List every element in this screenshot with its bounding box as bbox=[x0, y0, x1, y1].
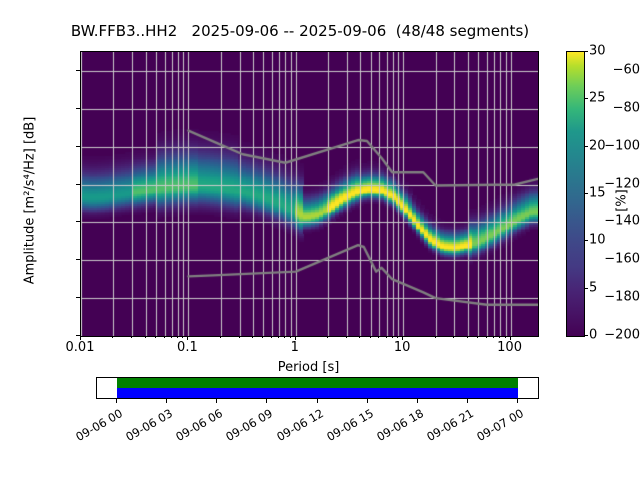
x-axis-tick-mark-minor bbox=[467, 336, 468, 338]
x-axis-tick-label: 100 bbox=[497, 340, 522, 355]
x-axis-label: Period [s] bbox=[80, 360, 537, 375]
colorbar-tick-label: 5 bbox=[589, 280, 597, 295]
x-axis-tick-mark-minor bbox=[477, 336, 478, 338]
x-axis-tick-mark-minor bbox=[392, 336, 393, 338]
y-axis-tick-mark bbox=[76, 108, 80, 109]
x-axis-tick-mark-minor bbox=[171, 336, 172, 338]
colorbar-tick-mark bbox=[584, 146, 588, 147]
colorbar-tick-label: 0 bbox=[589, 328, 597, 343]
ppsd-histogram-canvas bbox=[81, 52, 538, 336]
colorbar-tick-label: 10 bbox=[589, 233, 606, 248]
x-axis-tick-mark-minor bbox=[164, 336, 165, 338]
x-axis-tick-mark-minor bbox=[262, 336, 263, 338]
timeline-tick-label: 09-06 03 bbox=[118, 406, 175, 447]
x-axis-tick-mark-minor bbox=[378, 336, 379, 338]
timeline-tick-mark bbox=[517, 398, 518, 403]
y-axis-tick-label: −60 bbox=[572, 62, 640, 77]
y-axis-label: Amplitude [m²/s⁴/Hz] [dB] bbox=[23, 56, 38, 346]
x-axis-tick-mark-minor bbox=[252, 336, 253, 338]
timeline-tick-mark bbox=[467, 398, 468, 403]
timeline-tick-label: 09-06 18 bbox=[368, 406, 425, 447]
x-axis-tick-mark-minor bbox=[359, 336, 360, 338]
timeline-tick-mark bbox=[367, 398, 368, 403]
colorbar-tick-label: 20 bbox=[589, 138, 606, 153]
x-axis-tick-mark-minor bbox=[397, 336, 398, 338]
ppsd-plot-area[interactable] bbox=[80, 51, 539, 337]
x-axis-tick-mark-minor bbox=[271, 336, 272, 338]
x-axis-tick-label: 10 bbox=[394, 340, 411, 355]
figure-title: BW.FFB3..HH2 2025-09-06 -- 2025-09-06 (4… bbox=[0, 22, 600, 40]
x-axis-tick-mark-minor bbox=[239, 336, 240, 338]
timeline-tick-label: 09-06 09 bbox=[218, 406, 275, 447]
timeline-tick-mark bbox=[216, 398, 217, 403]
x-axis-tick-mark-minor bbox=[493, 336, 494, 338]
x-axis-tick-mark-minor bbox=[278, 336, 279, 338]
colorbar-tick-label: 15 bbox=[589, 186, 606, 201]
timeline-tick-label: 09-06 06 bbox=[168, 406, 225, 447]
timeline-tick-mark bbox=[166, 398, 167, 403]
timeline-bar-green bbox=[117, 378, 518, 388]
y-axis-tick-label: −140 bbox=[572, 214, 640, 229]
x-axis-tick-mark-minor bbox=[386, 336, 387, 338]
colorbar-tick-mark bbox=[584, 240, 588, 241]
x-axis-tick-mark-minor bbox=[370, 336, 371, 338]
timeline-tick-mark bbox=[317, 398, 318, 403]
ppsd-figure: BW.FFB3..HH2 2025-09-06 -- 2025-09-06 (4… bbox=[0, 0, 640, 480]
x-axis-tick-mark-minor bbox=[131, 336, 132, 338]
y-axis-tick-mark bbox=[76, 184, 80, 185]
x-axis-tick-mark-minor bbox=[145, 336, 146, 338]
y-axis-tick-mark bbox=[76, 259, 80, 260]
timeline-tick-label: 09-06 00 bbox=[68, 406, 125, 447]
timeline-tick-mark bbox=[266, 398, 267, 403]
x-axis-tick-mark-minor bbox=[327, 336, 328, 338]
timeline-coverage-axes[interactable] bbox=[96, 377, 539, 399]
timeline-tick-label: 09-06 12 bbox=[268, 406, 325, 447]
timeline-tick-label: 09-06 15 bbox=[319, 406, 376, 447]
x-axis-tick-mark-minor bbox=[155, 336, 156, 338]
x-axis-tick-mark-minor bbox=[499, 336, 500, 338]
x-axis-tick-label: 0.1 bbox=[177, 340, 198, 355]
y-axis-tick-label: −100 bbox=[572, 138, 640, 153]
timeline-tick-label: 09-06 21 bbox=[419, 406, 476, 447]
colorbar-tick-label: 30 bbox=[589, 44, 606, 59]
y-axis-tick-label: −180 bbox=[572, 290, 640, 305]
timeline-tick-mark bbox=[417, 398, 418, 403]
x-axis-tick-mark-minor bbox=[505, 336, 506, 338]
y-axis-tick-mark bbox=[76, 70, 80, 71]
colorbar-tick-label: 25 bbox=[589, 91, 606, 106]
x-axis-tick-mark-minor bbox=[346, 336, 347, 338]
x-axis-tick-mark-minor bbox=[435, 336, 436, 338]
y-axis-tick-mark bbox=[76, 297, 80, 298]
y-axis-tick-label: −160 bbox=[572, 252, 640, 267]
timeline-bar-blue bbox=[117, 388, 518, 398]
colorbar-tick-mark bbox=[584, 335, 588, 336]
x-axis-tick-mark-minor bbox=[182, 336, 183, 338]
x-axis-tick-mark-minor bbox=[220, 336, 221, 338]
x-axis-tick-label: 1 bbox=[291, 340, 299, 355]
colorbar-tick-mark bbox=[584, 288, 588, 289]
x-axis-tick-mark-minor bbox=[290, 336, 291, 338]
x-axis-tick-mark-minor bbox=[453, 336, 454, 338]
y-axis-tick-mark bbox=[76, 146, 80, 147]
x-axis-tick-label: 0.01 bbox=[66, 340, 95, 355]
x-axis-tick-mark-minor bbox=[177, 336, 178, 338]
timeline-tick-label: 09-07 00 bbox=[469, 406, 526, 447]
x-axis-tick-mark-minor bbox=[112, 336, 113, 338]
x-axis-tick-mark-minor bbox=[486, 336, 487, 338]
y-axis-tick-label: −200 bbox=[572, 328, 640, 343]
y-axis-tick-label: −120 bbox=[572, 176, 640, 191]
x-axis-tick-mark-minor bbox=[284, 336, 285, 338]
timeline-tick-mark bbox=[116, 398, 117, 403]
colorbar-tick-mark bbox=[584, 193, 588, 194]
colorbar-tick-mark bbox=[584, 51, 588, 52]
y-axis-tick-mark bbox=[76, 221, 80, 222]
colorbar-tick-mark bbox=[584, 98, 588, 99]
y-axis-tick-label: −80 bbox=[572, 100, 640, 115]
